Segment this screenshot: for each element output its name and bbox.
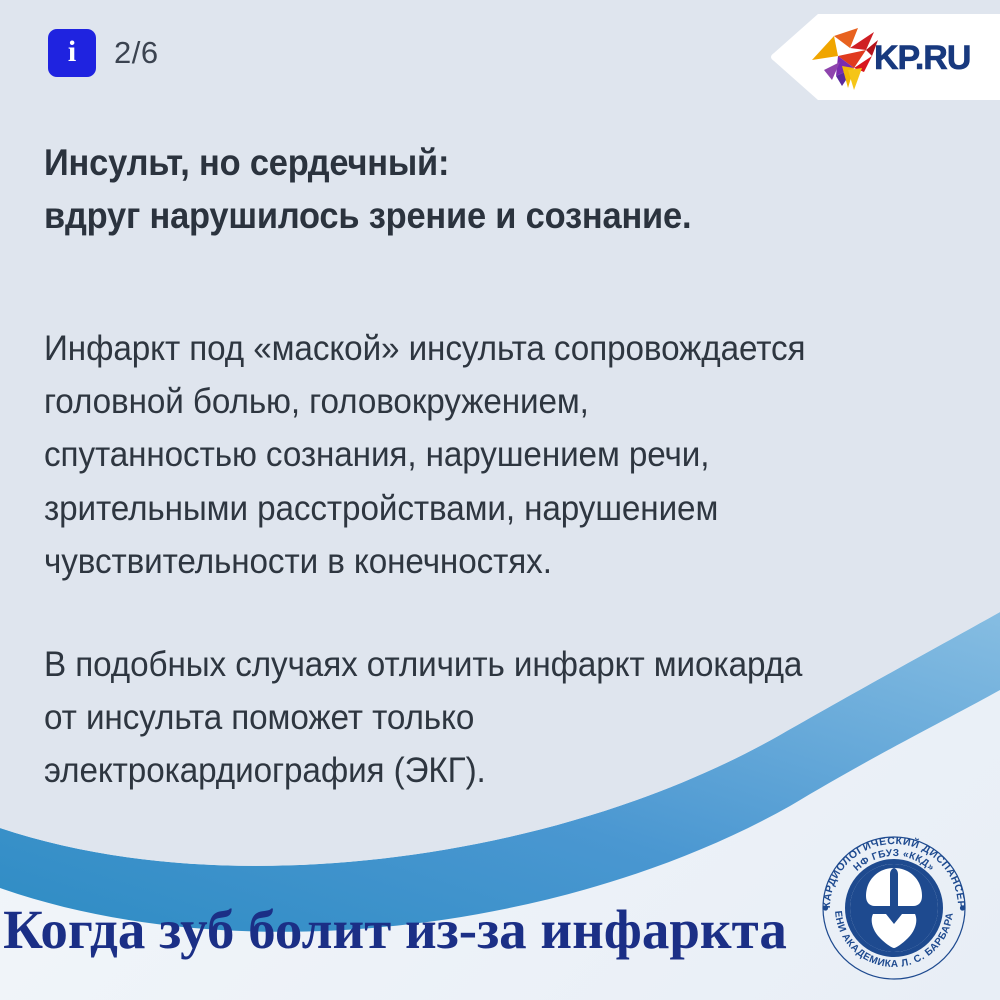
clinic-emblem: КАРДИОЛОГИЧЕСКИЙ ДИСПАНСЕР НФ ГБУЗ «ККД»… <box>818 832 970 984</box>
info-glyph: i <box>68 37 76 69</box>
kp-brand-text: KP.RU <box>874 39 970 78</box>
kp-logo-tag[interactable]: KP.RU <box>770 14 1000 100</box>
headline-line-2: вдруг нарушилось зрение и сознание. <box>44 189 881 242</box>
emblem-dot-right <box>960 905 965 910</box>
footer-title: Когда зуб болит из-за инфаркта <box>0 898 790 961</box>
infographic-slide: i 2/6 <box>0 0 1000 1000</box>
page-title: Инсульт, но сердечный: вдруг нарушилось … <box>44 136 881 243</box>
emblem-dot-left <box>823 905 828 910</box>
top-bar: i 2/6 <box>0 0 1000 120</box>
info-icon[interactable]: i <box>48 29 96 77</box>
body-content: Инфаркт под «маской» инсульта сопровожда… <box>44 322 984 798</box>
heart-trefoil-icon <box>850 864 938 952</box>
page-indicator-group: i 2/6 <box>48 29 159 77</box>
headline-line-1: Инсульт, но сердечный: <box>44 136 881 189</box>
paragraph-1: Инфаркт под «маской» инсульта сопровожда… <box>44 322 937 588</box>
paragraph-2: В подобных случаях отличить инфаркт миок… <box>44 638 937 798</box>
page-counter: 2/6 <box>114 35 159 71</box>
